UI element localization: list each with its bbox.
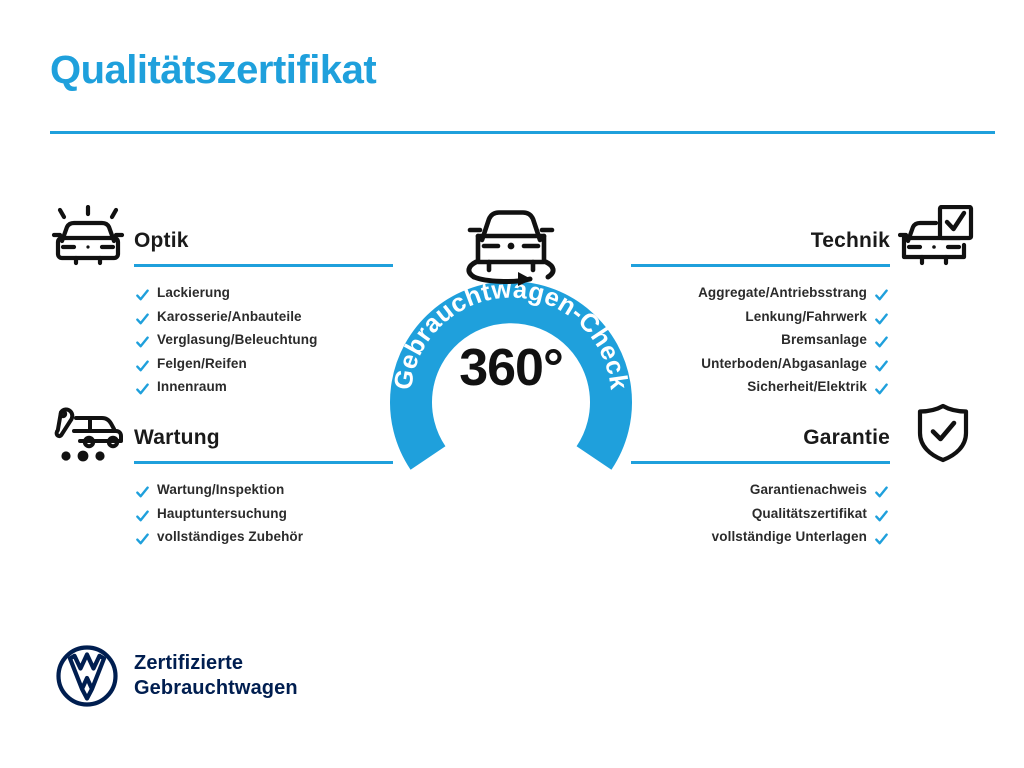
check-icon bbox=[875, 380, 888, 393]
check-icon bbox=[136, 483, 149, 496]
vw-logo bbox=[56, 645, 118, 707]
check-icon bbox=[875, 530, 888, 543]
list-item: Lackierung bbox=[136, 281, 395, 305]
list-item-label: Karosserie/Anbauteile bbox=[157, 305, 302, 329]
car-shine-icon bbox=[50, 205, 130, 267]
list-item: Verglasung/Beleuchtung bbox=[136, 328, 395, 352]
check-list: Garantienachweis Qualitätszertifikat vol… bbox=[629, 478, 888, 549]
section-header: Technik bbox=[629, 205, 974, 267]
section-title: Technik bbox=[811, 229, 890, 253]
list-item: Aggregate/Antriebsstrang bbox=[629, 281, 888, 305]
check-icon bbox=[875, 507, 888, 520]
list-item: Lenkung/Fahrwerk bbox=[629, 305, 888, 329]
list-item-label: Qualitätszertifikat bbox=[752, 502, 867, 526]
list-item: Hauptuntersuchung bbox=[136, 502, 395, 526]
list-item: Garantienachweis bbox=[629, 478, 888, 502]
list-item: Sicherheit/Elektrik bbox=[629, 375, 888, 399]
list-item: Innenraum bbox=[136, 375, 395, 399]
list-item-label: Lackierung bbox=[157, 281, 230, 305]
list-item: Unterboden/Abgasanlage bbox=[629, 352, 888, 376]
list-item-label: Verglasung/Beleuchtung bbox=[157, 328, 317, 352]
section-divider bbox=[134, 461, 393, 464]
check-icon bbox=[875, 483, 888, 496]
list-item: Wartung/Inspektion bbox=[136, 478, 395, 502]
badge-360-gebrauchtwagen-check: Gebrauchtwagen-Check 360° bbox=[380, 254, 642, 516]
car-rotate-icon bbox=[456, 200, 566, 286]
section-title: Optik bbox=[134, 229, 189, 253]
footer-line-1: Zertifizierte bbox=[134, 651, 298, 676]
list-item-label: Unterboden/Abgasanlage bbox=[701, 352, 867, 376]
check-icon bbox=[875, 286, 888, 299]
section-header: Wartung bbox=[50, 402, 395, 464]
check-icon bbox=[875, 357, 888, 370]
section-divider bbox=[631, 264, 890, 267]
list-item-label: Hauptuntersuchung bbox=[157, 502, 287, 526]
footer-line-2: Gebrauchtwagen bbox=[134, 676, 298, 701]
list-item-label: Garantienachweis bbox=[750, 478, 867, 502]
vw-certified-lockup: Zertifizierte Gebrauchtwagen bbox=[56, 645, 298, 707]
section-optik: Optik Lackierung Karosserie/Anbauteile V… bbox=[50, 205, 395, 399]
list-item: Qualitätszertifikat bbox=[629, 502, 888, 526]
list-item-label: Bremsanlage bbox=[781, 328, 867, 352]
check-icon bbox=[136, 333, 149, 346]
check-icon bbox=[136, 286, 149, 299]
check-list: Wartung/Inspektion Hauptuntersuchung vol… bbox=[136, 478, 395, 549]
list-item-label: Lenkung/Fahrwerk bbox=[745, 305, 867, 329]
section-title: Wartung bbox=[134, 426, 220, 450]
check-list: Lackierung Karosserie/Anbauteile Verglas… bbox=[136, 281, 395, 399]
check-icon bbox=[136, 357, 149, 370]
check-icon bbox=[875, 333, 888, 346]
wrench-car-icon bbox=[50, 402, 130, 464]
section-header: Optik bbox=[50, 205, 395, 267]
list-item-label: Aggregate/Antriebsstrang bbox=[698, 281, 867, 305]
section-wartung: Wartung Wartung/Inspektion Hauptuntersuc… bbox=[50, 402, 395, 549]
list-item: vollständiges Zubehör bbox=[136, 525, 395, 549]
car-checkbox-icon bbox=[894, 205, 974, 267]
page-title: Qualitätszertifikat bbox=[50, 48, 376, 92]
section-divider bbox=[631, 461, 890, 464]
check-icon bbox=[136, 530, 149, 543]
list-item: vollständige Unterlagen bbox=[629, 525, 888, 549]
footer-text: Zertifizierte Gebrauchtwagen bbox=[134, 651, 298, 701]
check-icon bbox=[136, 380, 149, 393]
shield-check-icon bbox=[894, 402, 974, 464]
check-icon bbox=[875, 310, 888, 323]
list-item-label: Wartung/Inspektion bbox=[157, 478, 284, 502]
title-divider bbox=[50, 131, 995, 134]
list-item-label: Sicherheit/Elektrik bbox=[747, 375, 867, 399]
list-item-label: vollständiges Zubehör bbox=[157, 525, 303, 549]
section-garantie: Garantie Garantienachweis Qualitätszerti… bbox=[629, 402, 974, 549]
check-icon bbox=[136, 310, 149, 323]
list-item-label: Felgen/Reifen bbox=[157, 352, 247, 376]
check-icon bbox=[136, 507, 149, 520]
list-item: Felgen/Reifen bbox=[136, 352, 395, 376]
section-title: Garantie bbox=[803, 426, 890, 450]
section-technik: Technik Aggregate/Antriebsstrang Lenkung… bbox=[629, 205, 974, 399]
badge-center-label: 360° bbox=[380, 338, 642, 398]
list-item-label: Innenraum bbox=[157, 375, 227, 399]
check-list: Aggregate/Antriebsstrang Lenkung/Fahrwer… bbox=[629, 281, 888, 399]
list-item: Bremsanlage bbox=[629, 328, 888, 352]
section-divider bbox=[134, 264, 393, 267]
section-header: Garantie bbox=[629, 402, 974, 464]
list-item-label: vollständige Unterlagen bbox=[712, 525, 867, 549]
list-item: Karosserie/Anbauteile bbox=[136, 305, 395, 329]
